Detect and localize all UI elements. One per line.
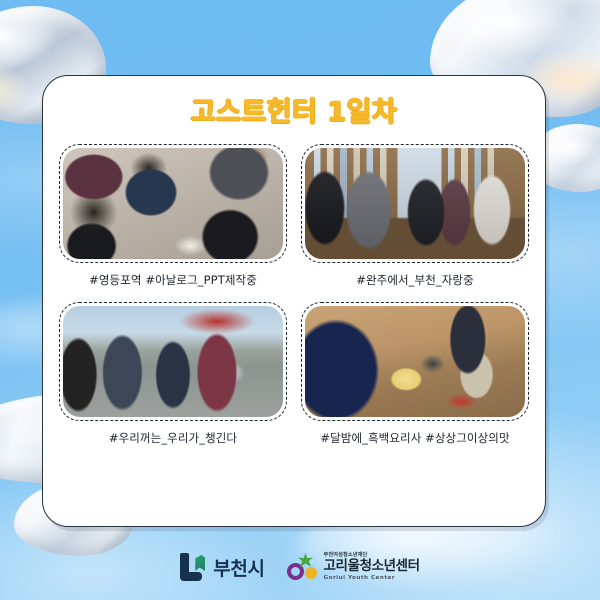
bucheon-mark-icon — [180, 553, 206, 581]
bucheon-city-label: 부천시 — [213, 554, 264, 581]
bucheon-city-logo: 부천시 — [180, 553, 264, 581]
content-card: 고스트헌터 1일차 #영등포역 #아날로그_PPT제작중 #완주에서_부천_자랑… — [42, 75, 546, 527]
photo-caption-4: #달밤에_흑백요리사 #상상그이상의맛 — [301, 430, 529, 446]
photo-caption-3: #우리꺼는_우리가_챙긴다 — [59, 430, 287, 446]
photo-cell-2: #완주에서_부천_자랑중 — [301, 144, 529, 288]
photo-cell-4: #달밤에_흑백요리사 #상상그이상의맛 — [301, 302, 529, 446]
photo-caption-1: #영등포역 #아날로그_PPT제작중 — [59, 272, 287, 288]
photo-frame-3 — [59, 302, 287, 421]
photo-frame-4 — [301, 302, 529, 421]
goriul-mark-icon — [287, 553, 317, 581]
photo-cell-1: #영등포역 #아날로그_PPT제작중 — [59, 144, 287, 288]
poster-canvas: 고스트헌터 1일차 #영등포역 #아날로그_PPT제작중 #완주에서_부천_자랑… — [0, 0, 600, 600]
page-title: 고스트헌터 1일차 — [43, 90, 545, 129]
photo-cell-3: #우리꺼는_우리가_챙긴다 — [59, 302, 287, 446]
photo-frame-2 — [301, 144, 529, 263]
photo-4-image — [305, 306, 525, 417]
photo-grid: #영등포역 #아날로그_PPT제작중 #완주에서_부천_자랑중 #우리꺼는_우리… — [59, 144, 529, 446]
photo-frame-1 — [59, 144, 287, 263]
photo-caption-2: #완주에서_부천_자랑중 — [301, 272, 529, 288]
photo-1-image — [63, 148, 283, 259]
photo-3-image — [63, 306, 283, 417]
goriul-center-label-en: Goriul Youth Center — [324, 576, 420, 582]
goriul-text-block: 부천여성청소년재단 고리울청소년센터 Goriul Youth Center — [324, 553, 420, 581]
photo-2-image — [305, 148, 525, 259]
goriul-center-label: 고리울청소년센터 — [324, 560, 420, 574]
footer-logos: 부천시 부천여성청소년재단 고리울청소년센터 Goriul Youth Cent… — [0, 542, 600, 592]
goriul-youth-center-logo: 부천여성청소년재단 고리울청소년센터 Goriul Youth Center — [287, 553, 420, 581]
